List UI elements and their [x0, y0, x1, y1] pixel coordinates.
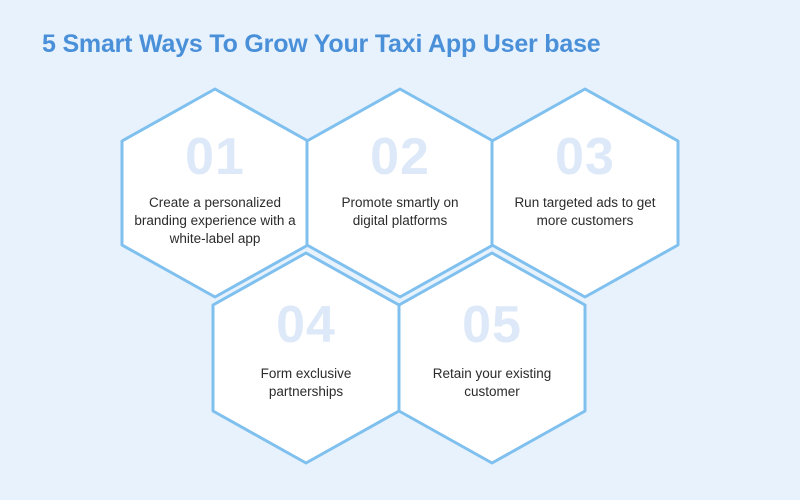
step-number-3: 03 [492, 131, 678, 183]
step-text-4: Form exclusive partnerships [213, 365, 399, 401]
step-text-5: Retain your existing customer [399, 365, 585, 401]
infographic-canvas: 5 Smart Ways To Grow Your Taxi App User … [0, 0, 800, 500]
step-text-3: Run targeted ads to get more customers [492, 194, 678, 230]
step-number-5: 05 [399, 299, 585, 351]
step-text-2: Promote smartly on digital platforms [307, 194, 493, 230]
step-cell-4[interactable]: 04 Form exclusive partnerships [213, 253, 399, 463]
step-number-4: 04 [213, 299, 399, 351]
step-number-2: 02 [307, 131, 493, 183]
step-number-1: 01 [122, 131, 308, 183]
step-cell-5[interactable]: 05 Retain your existing customer [399, 253, 585, 463]
step-text-1: Create a personalized branding experienc… [122, 194, 308, 249]
